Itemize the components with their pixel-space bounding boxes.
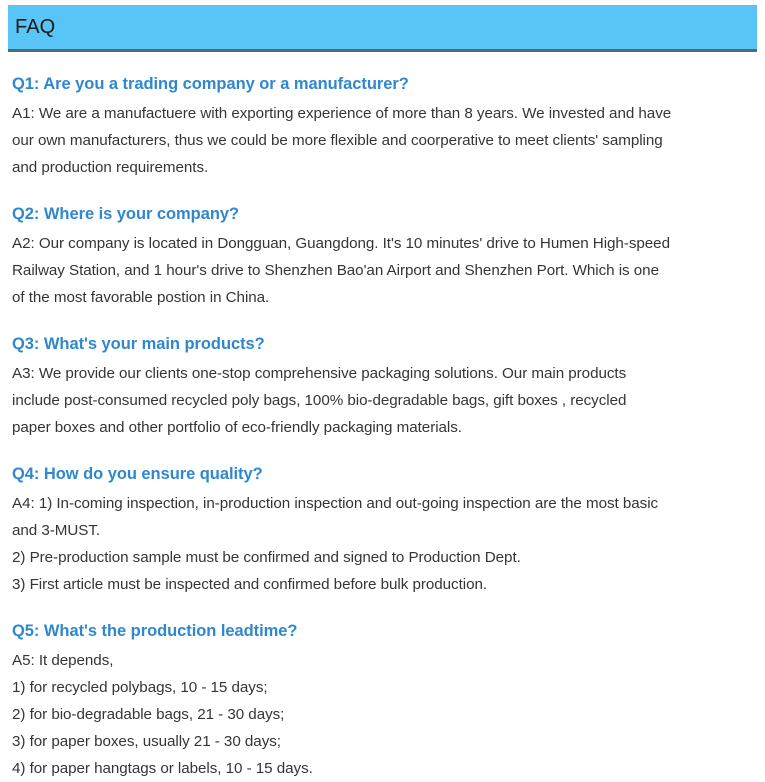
faq-question-q2: Q2: Where is your company? [12, 202, 752, 227]
faq-question-q5: Q5: What's the production leadtime? [12, 619, 752, 644]
faq-header-banner: FAQ [8, 5, 757, 52]
faq-answer-line: A2: Our company is located in Dongguan, … [12, 230, 752, 257]
faq-content: Q1: Are you a trading company or a manuf… [12, 72, 752, 782]
faq-answer-q4: A4: 1) In-coming inspection, in-producti… [12, 490, 752, 598]
faq-item-q2: Q2: Where is your company? A2: Our compa… [12, 202, 752, 311]
faq-answer-line: A4: 1) In-coming inspection, in-producti… [12, 490, 752, 517]
faq-answer-q1: A1: We are a manufactuere with exporting… [12, 100, 752, 181]
faq-item-q5: Q5: What's the production leadtime? A5: … [12, 619, 752, 782]
faq-answer-line: Railway Station, and 1 hour's drive to S… [12, 257, 752, 284]
faq-answer-line: 2) Pre-production sample must be confirm… [12, 544, 752, 571]
faq-answer-line: 4) for paper hangtags or labels, 10 - 15… [12, 755, 752, 782]
faq-answer-line: our own manufacturers, thus we could be … [12, 127, 752, 154]
faq-item-q4: Q4: How do you ensure quality? A4: 1) In… [12, 462, 752, 598]
faq-answer-line: 3) for paper boxes, usually 21 - 30 days… [12, 728, 752, 755]
faq-answer-line: of the most favorable postion in China. [12, 284, 752, 311]
faq-answer-q3: A3: We provide our clients one-stop comp… [12, 360, 752, 441]
faq-answer-line: include post-consumed recycled poly bags… [12, 387, 752, 414]
faq-question-q4: Q4: How do you ensure quality? [12, 462, 752, 487]
faq-answer-line: A3: We provide our clients one-stop comp… [12, 360, 752, 387]
faq-question-q1: Q1: Are you a trading company or a manuf… [12, 72, 752, 97]
faq-answer-line: 1) for recycled polybags, 10 - 15 days; [12, 674, 752, 701]
faq-page: FAQ Q1: Are you a trading company or a m… [0, 0, 765, 748]
faq-answer-line: A1: We are a manufactuere with exporting… [12, 100, 752, 127]
faq-answer-line: and 3-MUST. [12, 517, 752, 544]
faq-answer-line: and production requirements. [12, 154, 752, 181]
faq-item-q3: Q3: What's your main products? A3: We pr… [12, 332, 752, 441]
faq-answer-line: A5: It depends, [12, 647, 752, 674]
faq-answer-q2: A2: Our company is located in Dongguan, … [12, 230, 752, 311]
faq-answer-line: paper boxes and other portfolio of eco-f… [12, 414, 752, 441]
faq-answer-q5: A5: It depends, 1) for recycled polybags… [12, 647, 752, 782]
faq-item-q1: Q1: Are you a trading company or a manuf… [12, 72, 752, 181]
faq-answer-line: 2) for bio-degradable bags, 21 - 30 days… [12, 701, 752, 728]
faq-question-q3: Q3: What's your main products? [12, 332, 752, 357]
page-title: FAQ [8, 17, 55, 37]
faq-answer-line: 3) First article must be inspected and c… [12, 571, 752, 598]
